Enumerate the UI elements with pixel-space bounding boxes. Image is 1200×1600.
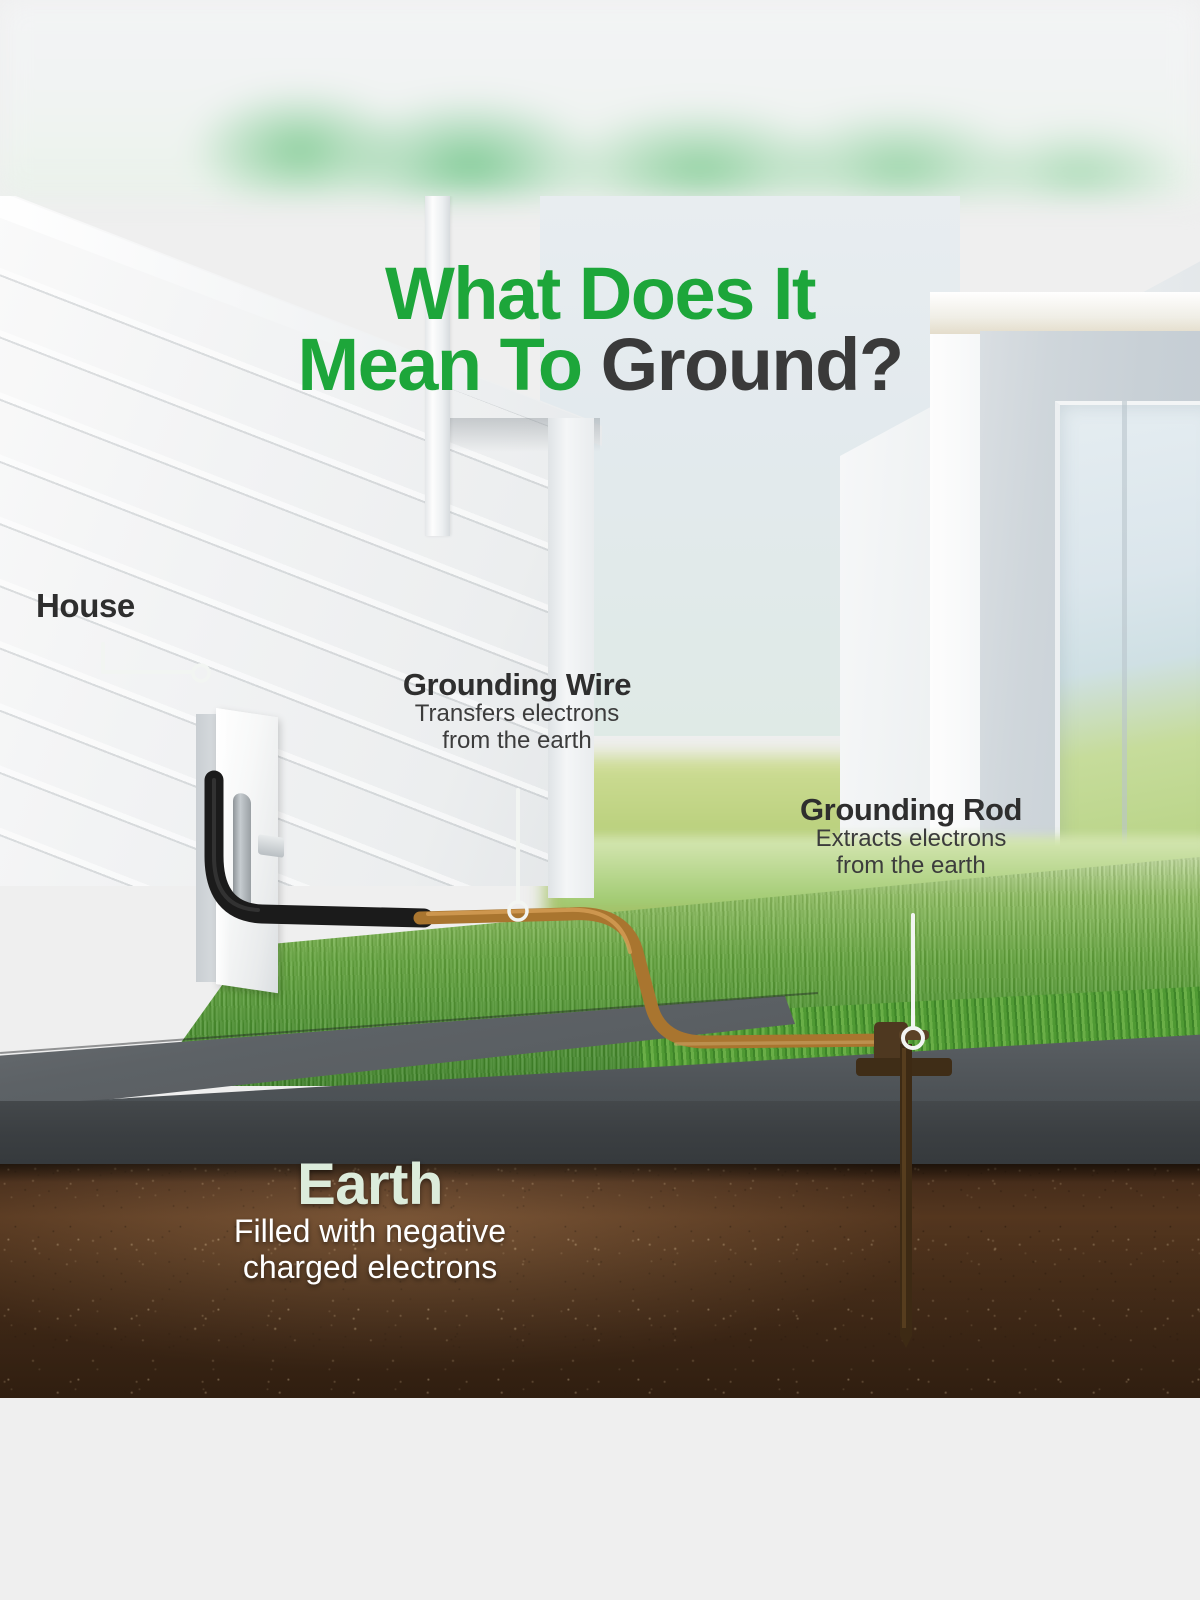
- page-title: What Does It Mean To Ground?: [0, 258, 1200, 400]
- label-grounding-rod: Grounding Rod Extracts electrons from th…: [752, 793, 1070, 880]
- label-grounding-wire: Grounding Wire Transfers electrons from …: [352, 668, 682, 755]
- label-grounding-rod-sub1: Extracts electrons: [752, 826, 1070, 853]
- wire-callout-dot: [509, 902, 527, 920]
- label-house: House: [36, 588, 135, 624]
- title-line-2: Mean To Ground?: [0, 329, 1200, 400]
- label-earth-heading: Earth: [170, 1156, 570, 1214]
- label-grounding-rod-sub2: from the earth: [752, 853, 1070, 880]
- label-grounding-rod-heading: Grounding Rod: [752, 793, 1070, 826]
- house-callout-dot: [193, 665, 209, 681]
- label-earth: Earth Filled with negative charged elect…: [170, 1156, 570, 1286]
- title-line-2-dark: Ground?: [601, 323, 903, 406]
- title-line-2-green: Mean To: [297, 323, 600, 406]
- house-callout-line: [103, 644, 192, 672]
- title-line-1: What Does It: [0, 258, 1200, 329]
- label-house-heading: House: [36, 588, 135, 624]
- label-grounding-wire-sub1: Transfers electrons: [352, 701, 682, 728]
- infographic-canvas: What Does It Mean To Ground? House Groun…: [0, 0, 1200, 1600]
- label-grounding-wire-heading: Grounding Wire: [352, 668, 682, 701]
- label-earth-sub2: charged electrons: [170, 1250, 570, 1286]
- label-grounding-wire-sub2: from the earth: [352, 728, 682, 755]
- rod-callout-dot: [903, 1028, 923, 1048]
- label-earth-sub1: Filled with negative: [170, 1214, 570, 1250]
